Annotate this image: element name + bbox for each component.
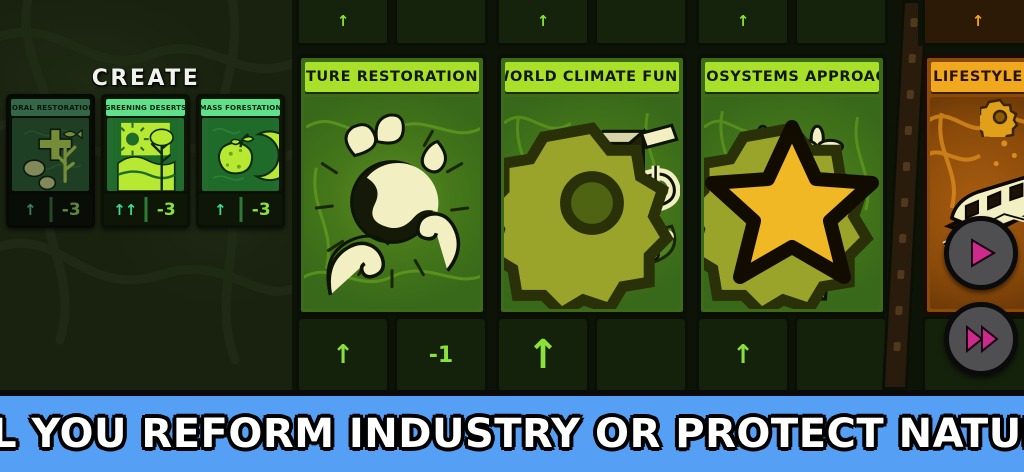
board-columns: ↑ TURE RESTORATION [292,0,1024,390]
board-card-title: WORLD CLIMATE FUND [505,62,679,92]
hand-section-title: CREATE [0,66,292,91]
hand-card-cost: -3 [51,194,93,225]
stat-separator [49,197,52,222]
hand-card-effect: ↑ [199,194,241,225]
rivet [903,162,910,171]
top-stat-empty [794,0,888,46]
greening-deserts-icon [107,118,184,191]
hand-card-stats: ↑↑ -3 [104,191,187,225]
board-area: ↑ TURE RESTORATION [292,0,1024,390]
bottom-arrow-icon: ↑ [732,342,754,368]
play-icon [961,233,1001,273]
tagline-banner: WILL YOU REFORM INDUSTRY OR PROTECT NATU… [0,390,1024,472]
top-stat-arrow: ↑ [696,0,790,46]
board-column-nature-restoration[interactable]: ↑ TURE RESTORATION [292,0,492,390]
top-stat-arrow: ↑ [496,0,590,46]
top-stat-empty [394,0,488,46]
rivet [893,342,900,351]
playback-controls [944,216,1018,376]
hand-card-coral-restoration[interactable]: CORAL RESTORATION [6,94,95,228]
board-card-world-climate-fund[interactable]: WORLD CLIMATE FUND [497,54,687,316]
tagline-text: WILL YOU REFORM INDUSTRY OR PROTECT NATU… [0,411,1024,457]
board-column-ecosystems-approach[interactable]: ↑ ECOSYSTEMS APPROACH [692,0,892,390]
bottom-stat-arrow: ↑ [496,316,590,390]
rivet [905,126,912,135]
flowers-icon [704,97,880,309]
bottom-stat-arrow: ↑ [696,316,790,390]
bottom-stat-arrow: ↑ [296,316,390,390]
column-bottom-stats: ↑ [692,316,892,390]
zone-separator [892,0,918,390]
money-city-icon [504,97,680,309]
hand-card-cost: -3 [146,194,188,225]
top-stat-empty [594,0,688,46]
fast-forward-icon [961,319,1001,359]
bottom-arrow-icon: ↑ [526,335,560,375]
column-bottom-stats: ↑ [492,316,692,390]
coral-restoration-icon [12,118,89,191]
hand-card-stats: ↑ -3 [199,191,282,225]
bottom-arrow-icon: ↑ [332,342,354,368]
gear-icon [980,97,1020,137]
bottom-stat-value [794,316,888,390]
hand-card-list: CORAL RESTORATION [6,94,285,228]
top-stat-arrow: ↑ [296,0,390,46]
rivet [908,54,915,63]
bottom-stat-value: -1 [394,316,488,390]
bottom-stat-value [594,316,688,390]
stat-separator [239,197,242,222]
hand-card-stats: ↑ -3 [9,191,92,225]
column-top-stats: ↑ [492,0,692,46]
rivet [901,198,908,207]
column-bottom-stats: ↑ -1 [292,316,492,390]
board-card-title: ECOSYSTEMS APPROACH [705,62,879,92]
hand-card-title: CORAL RESTORATION [11,99,90,116]
column-top-stats: ↑ [918,0,1024,46]
hand-card-title: GREENING DESERTS [106,99,185,116]
stat-separator [144,197,147,222]
game-screen: CREATE CORAL RESTORATION [0,0,1024,472]
board-card-ecosystems-approach[interactable]: ECOSYSTEMS APPROACH [697,54,887,316]
hand-panel: CREATE CORAL RESTORATION [0,0,292,390]
fast-forward-button[interactable] [944,302,1018,376]
hand-card-title: MASS FORESTATION [201,99,280,116]
star-icon [704,97,880,309]
column-top-stats: ↑ [692,0,892,46]
hand-card-greening-deserts[interactable]: GREENING DESERTS [101,94,190,228]
board-column-world-climate-fund[interactable]: ↑ WORLD CLIMATE FUND [492,0,692,390]
hand-card-effect: ↑↑ [104,194,146,225]
board-card-title: TURE RESTORATION [305,62,479,92]
rivet [910,18,917,27]
rivet [899,234,906,243]
play-button[interactable] [944,216,1018,290]
hands-holding-earth-icon [304,97,480,309]
hand-card-cost: -3 [241,194,283,225]
rivet [895,306,902,315]
hand-card-mass-forestation[interactable]: MASS FORESTATION [196,94,285,228]
hand-card-effect: ↑ [9,194,51,225]
board-card-nature-restoration[interactable]: TURE RESTORATION [297,54,487,316]
rivet [907,90,914,99]
column-top-stats: ↑ [292,0,492,46]
board-card-title: LIFESTYLE [931,62,1024,92]
mass-forestation-icon [202,118,279,191]
gear-icon [504,97,680,309]
rivet [897,270,904,279]
top-stat-arrow: ↑ [922,0,1024,46]
